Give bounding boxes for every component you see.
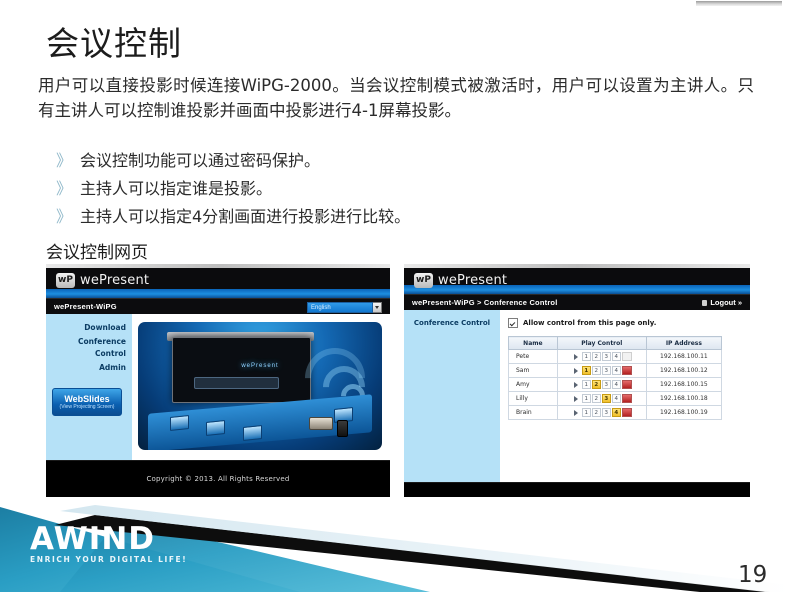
usb-dongle-icon <box>337 420 348 437</box>
list-item: 》 主持人可以指定4分割画面进行投影进行比较。 <box>56 204 696 230</box>
play-slot-button[interactable]: 1 <box>582 394 591 403</box>
cell-name: Sam <box>509 364 558 378</box>
table-body: Pete1234192.168.100.11Sam1234192.168.100… <box>509 350 722 420</box>
wepresent-logo: wP wePresent <box>414 273 507 288</box>
cell-name: Lilly <box>509 392 558 406</box>
play-icon[interactable] <box>572 394 581 403</box>
bullet-glyph-icon: 》 <box>56 148 80 174</box>
play-icon[interactable] <box>572 408 581 417</box>
cell-name: Brain <box>509 406 558 420</box>
bullet-list: 》 会议控制功能可以通过密码保护。 》 主持人可以指定谁是投影。 》 主持人可以… <box>56 148 696 232</box>
play-slot-button[interactable]: 4 <box>612 408 621 417</box>
play-slot-button[interactable]: 3 <box>602 352 611 361</box>
sidebar-item-conference-control[interactable]: Conference Control <box>404 319 500 327</box>
column-header-ip-address: IP Address <box>646 337 721 350</box>
breadcrumb: wePresent-WiPG > Conference Control <box>412 298 558 307</box>
slide-canvas: 会议控制 用户可以直接投影时候连接WiPG-2000。当会议控制模式被激活时，用… <box>0 0 790 592</box>
left-copyright-label: Copyright © 2013. All Rights Reserved <box>146 475 289 483</box>
page-number: 19 <box>738 563 772 588</box>
stop-button[interactable] <box>622 352 632 361</box>
cell-play-control: 1234 <box>557 406 646 420</box>
play-control-group: 1234 <box>558 408 646 417</box>
right-page-body: Conference Control Allow control from th… <box>404 310 750 482</box>
sidebar-item-download[interactable]: Download <box>46 322 126 334</box>
play-slot-button[interactable]: 4 <box>612 380 621 389</box>
cell-name: Amy <box>509 378 558 392</box>
lock-icon <box>702 300 707 306</box>
hero-illustration: wePresent <box>138 322 382 450</box>
bullet-glyph-icon: 》 <box>56 176 80 202</box>
webslides-button[interactable]: WebSlides (View Projecting Screen) <box>52 388 122 416</box>
table-row: Amy1234192.168.100.15 <box>509 378 722 392</box>
list-item-label: 会议控制功能可以通过密码保护。 <box>80 148 320 174</box>
projection-screen <box>172 337 311 403</box>
cell-ip-address: 192.168.100.15 <box>646 378 721 392</box>
screen-logo-label: wePresent <box>241 363 278 369</box>
play-slot-button[interactable]: 2 <box>592 352 601 361</box>
cell-play-control: 1234 <box>557 392 646 406</box>
list-item: 》 主持人可以指定谁是投影。 <box>56 176 696 202</box>
cell-ip-address: 192.168.100.12 <box>646 364 721 378</box>
left-main-content: wePresent <box>132 314 390 460</box>
play-slot-button[interactable]: 2 <box>592 366 601 375</box>
chevron-down-icon[interactable] <box>373 302 382 313</box>
play-control-group: 1234 <box>558 394 646 403</box>
bullet-glyph-icon: 》 <box>56 204 80 230</box>
cell-play-control: 1234 <box>557 350 646 364</box>
bottom-decoration: AWIND ENRICH YOUR DIGITAL LIFE! <box>0 497 790 592</box>
left-page-body: Download Conference Control Admin WebSli… <box>46 314 390 460</box>
play-slot-button[interactable]: 3 <box>602 366 611 375</box>
cell-play-control: 1234 <box>557 378 646 392</box>
projector-device-icon <box>309 417 333 430</box>
cell-ip-address: 192.168.100.19 <box>646 406 721 420</box>
play-slot-button[interactable]: 2 <box>592 380 601 389</box>
section-subheading: 会议控制网页 <box>46 238 148 263</box>
play-icon[interactable] <box>572 380 581 389</box>
top-right-bar-decoration <box>696 1 782 6</box>
cell-play-control: 1234 <box>557 364 646 378</box>
table-row: Lilly1234192.168.100.18 <box>509 392 722 406</box>
screen-dialog-box <box>194 377 279 389</box>
stop-button[interactable] <box>622 366 632 375</box>
right-sidebar: Conference Control <box>404 310 500 482</box>
list-item-label: 主持人可以指定谁是投影。 <box>80 176 272 202</box>
left-sidebar-menu: Download Conference Control Admin WebSli… <box>46 314 132 460</box>
wepresent-mark-icon: wP <box>414 273 433 288</box>
conference-control-panel: Allow control from this page only. Name … <box>500 310 750 482</box>
breadcrumb: wePresent-WiPG <box>54 302 117 311</box>
left-screenshot-home-page: wP wePresent wePresent-WiPG English Down… <box>46 264 390 502</box>
play-slot-button[interactable]: 1 <box>582 366 591 375</box>
allow-control-checkbox[interactable] <box>508 318 518 328</box>
laptop-icon <box>206 420 225 436</box>
play-slot-button[interactable]: 2 <box>592 394 601 403</box>
table-row: Pete1234192.168.100.11 <box>509 350 722 364</box>
list-item: 》 会议控制功能可以通过密码保护。 <box>56 148 696 174</box>
cell-name: Pete <box>509 350 558 364</box>
awind-logo-text: AWIND <box>30 524 187 554</box>
page-title: 会议控制 <box>46 24 182 64</box>
left-footer: Copyright © 2013. All Rights Reserved <box>46 460 390 497</box>
play-slot-button[interactable]: 4 <box>612 366 621 375</box>
play-slot-button[interactable]: 4 <box>612 352 621 361</box>
table-row: Brain1234192.168.100.19 <box>509 406 722 420</box>
cell-ip-address: 192.168.100.18 <box>646 392 721 406</box>
allow-control-label: Allow control from this page only. <box>523 319 656 327</box>
play-control-group: 1234 <box>558 352 646 361</box>
play-slot-button[interactable]: 3 <box>602 408 611 417</box>
wepresent-brand-label: wePresent <box>80 273 149 288</box>
column-header-name: Name <box>509 337 558 350</box>
play-slot-button[interactable]: 4 <box>612 394 621 403</box>
sidebar-item-admin[interactable]: Admin <box>46 362 126 374</box>
sidebar-item-conference-control[interactable]: Conference Control <box>46 336 126 360</box>
language-select[interactable]: English <box>307 302 382 313</box>
play-slot-button[interactable]: 1 <box>582 408 591 417</box>
wepresent-logo: wP wePresent <box>56 273 149 288</box>
play-control-group: 1234 <box>558 380 646 389</box>
left-breadcrumb-bar: wePresent-WiPG English <box>46 298 390 314</box>
play-icon[interactable] <box>572 366 581 375</box>
awind-tagline: ENRICH YOUR DIGITAL LIFE! <box>30 555 187 564</box>
play-slot-button[interactable]: 3 <box>602 380 611 389</box>
play-slot-button[interactable]: 2 <box>592 408 601 417</box>
conference-users-table: Name Play Control IP Address Pete1234192… <box>508 336 722 420</box>
right-screenshot-conference-control: wP wePresent wePresent-WiPG > Conference… <box>404 264 750 502</box>
logout-label: Logout » <box>710 298 742 307</box>
webslides-button-sublabel: (View Projecting Screen) <box>60 404 115 411</box>
play-control-group: 1234 <box>558 366 646 375</box>
logout-button[interactable]: Logout » <box>702 298 742 307</box>
wepresent-brand-label: wePresent <box>438 273 507 288</box>
laptop-icon <box>170 415 189 431</box>
table-header-row: Name Play Control IP Address <box>509 337 722 350</box>
play-slot-button[interactable]: 3 <box>602 394 611 403</box>
intro-paragraph: 用户可以直接投影时候连接WiPG-2000。当会议控制模式被激活时，用户可以设置… <box>38 73 754 123</box>
cell-ip-address: 192.168.100.11 <box>646 350 721 364</box>
stop-button[interactable] <box>622 380 632 389</box>
right-brand-header: wP wePresent <box>404 268 750 294</box>
list-item-label: 主持人可以指定4分割画面进行投影进行比较。 <box>80 204 410 230</box>
column-header-play-control: Play Control <box>557 337 646 350</box>
wepresent-mark-icon: wP <box>56 273 75 288</box>
left-brand-header: wP wePresent <box>46 268 390 298</box>
stop-button[interactable] <box>622 394 632 403</box>
laptop-icon <box>243 425 262 441</box>
table-row: Sam1234192.168.100.12 <box>509 364 722 378</box>
allow-control-checkbox-row[interactable]: Allow control from this page only. <box>508 318 740 328</box>
play-icon[interactable] <box>572 352 581 361</box>
stop-button[interactable] <box>622 408 632 417</box>
awind-logo: AWIND ENRICH YOUR DIGITAL LIFE! <box>30 524 187 564</box>
webslides-button-label: WebSlides <box>64 394 109 404</box>
play-slot-button[interactable]: 1 <box>582 380 591 389</box>
right-breadcrumb-bar: wePresent-WiPG > Conference Control Logo… <box>404 294 750 310</box>
language-select-value[interactable]: English <box>307 302 373 313</box>
play-slot-button[interactable]: 1 <box>582 352 591 361</box>
